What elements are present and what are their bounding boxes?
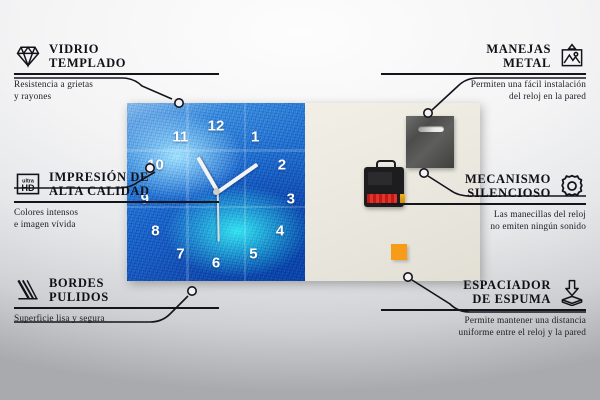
feature-subtitle: Las manecillas del reloj no emiten ningú… <box>381 209 586 233</box>
feature-rule <box>381 73 586 75</box>
clock-numeral-6: 6 <box>212 256 220 271</box>
foam-spacer <box>391 244 407 260</box>
feature-title: IMPRESIÓN DE ALTA CALIDAD <box>49 170 150 198</box>
diamond-icon <box>14 42 42 70</box>
clock-numeral-11: 11 <box>172 129 188 144</box>
feature-subtitle: Permiten una fácil instalación del reloj… <box>381 79 586 103</box>
feature-heading: VIDRIO TEMPLADO <box>14 42 219 70</box>
feature-heading: ultra HD IMPRESIÓN DE ALTA CALIDAD <box>14 170 219 198</box>
artwork-grid-line <box>127 149 305 152</box>
clock-numeral-2: 2 <box>278 158 286 173</box>
feature-heading: ESPACIADOR DE ESPUMA <box>381 278 586 306</box>
feature-title: ESPACIADOR DE ESPUMA <box>463 278 551 306</box>
feature-heading: MECANISMO SILENCIOSO <box>381 172 586 200</box>
clock-numeral-7: 7 <box>176 247 184 262</box>
feature-heading: MANEJAS METAL <box>381 42 586 70</box>
clock-numeral-5: 5 <box>249 247 257 262</box>
svg-text:HD: HD <box>21 183 35 193</box>
feature-title: BORDES PULIDOS <box>49 276 109 304</box>
feature-impresion-alta-calidad: ultra HD IMPRESIÓN DE ALTA CALIDAD Color… <box>14 170 219 231</box>
picture-frame-hook-icon <box>558 42 586 70</box>
feature-subtitle: Colores intensos e imagen vívida <box>14 207 219 231</box>
polished-edges-icon <box>14 276 42 304</box>
feature-title: MECANISMO SILENCIOSO <box>465 172 551 200</box>
infographic-stage: 12 1 2 3 4 5 6 7 8 9 10 11 <box>0 0 600 400</box>
clock-numeral-12: 12 <box>208 119 225 134</box>
feature-rule <box>14 201 219 203</box>
artwork-grid-line <box>244 103 246 281</box>
feature-rule <box>381 309 586 311</box>
feature-bordes-pulidos: BORDES PULIDOS Superficie lisa y segura <box>14 276 219 325</box>
feature-espaciador-espuma: ESPACIADOR DE ESPUMA Permite mantener un… <box>381 278 586 339</box>
feature-subtitle: Resistencia a grietas y rayones <box>14 79 219 103</box>
feature-manejas-metal: MANEJAS METAL Permiten una fácil instala… <box>381 42 586 103</box>
metal-hanger-plate <box>406 116 454 168</box>
ultra-hd-icon: ultra HD <box>14 170 42 198</box>
foam-spacer-arrow-icon <box>558 278 586 306</box>
hanger-slot <box>418 126 444 132</box>
gear-icon <box>558 172 586 200</box>
feature-rule <box>381 203 586 205</box>
feature-rule <box>14 307 219 309</box>
clock-numeral-3: 3 <box>287 192 295 207</box>
mechanism-hanger-tab <box>376 160 396 170</box>
feature-rule <box>14 73 219 75</box>
feature-title: VIDRIO TEMPLADO <box>49 42 126 70</box>
clock-numeral-1: 1 <box>251 129 259 144</box>
clock-numeral-4: 4 <box>276 224 284 239</box>
feature-subtitle: Superficie lisa y segura <box>14 313 219 325</box>
feature-mecanismo-silencioso: MECANISMO SILENCIOSO Las manecillas del … <box>381 172 586 233</box>
feature-vidrio-templado: VIDRIO TEMPLADO Resistencia a grietas y … <box>14 42 219 103</box>
feature-title: MANEJAS METAL <box>486 42 551 70</box>
feature-heading: BORDES PULIDOS <box>14 276 219 304</box>
feature-subtitle: Permite mantener una distancia uniforme … <box>381 315 586 339</box>
